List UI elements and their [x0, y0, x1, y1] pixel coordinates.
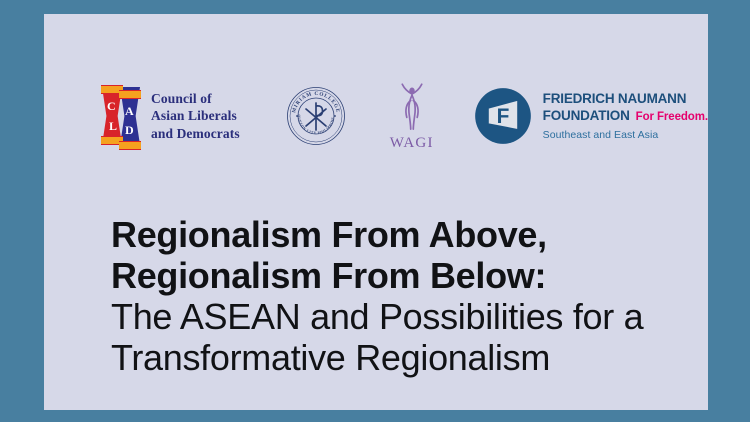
wagi-wordmark: WAGI — [390, 135, 434, 152]
subtitle-line-1: The ASEAN and Possibilities for a — [111, 296, 691, 337]
svg-text:F: F — [496, 105, 509, 128]
fnf-region-label: Southeast and East Asia — [543, 129, 708, 141]
title-line-2: Regionalism From Below: — [111, 255, 691, 296]
fnf-line-2: FOUNDATION — [543, 108, 630, 124]
cald-wordmark-line-3: and Democrats — [151, 125, 240, 142]
title-line-1: Regionalism From Above, — [111, 214, 691, 255]
logo-miriam-college: MIRIAM COLLEGE QUEZON CITY PHILIPPINES — [286, 70, 346, 162]
presentation-slide: C A L D Council of Asian Liberals and De… — [44, 14, 708, 410]
cald-letter-c: C — [107, 100, 116, 112]
cald-letter-d: D — [125, 124, 134, 136]
slide-title-block: Regionalism From Above, Regionalism From… — [111, 214, 691, 378]
logo-wagi: WAGI — [390, 70, 434, 162]
logo-cald: C A L D Council of Asian Liberals and De… — [102, 70, 240, 162]
fnf-line-1: FRIEDRICH NAUMANN — [543, 91, 708, 107]
cald-wordmark-line-2: Asian Liberals — [151, 107, 240, 124]
slide-canvas: C A L D Council of Asian Liberals and De… — [0, 0, 750, 422]
cald-wordmark-line-1: Council of — [151, 90, 240, 107]
cald-letter-l: L — [109, 120, 117, 132]
fnf-emblem-icon: F — [474, 87, 532, 145]
subtitle-line-2: Transformative Regionalism — [111, 337, 691, 378]
cald-letter-a: A — [125, 105, 134, 117]
partner-logo-row: C A L D Council of Asian Liberals and De… — [44, 70, 708, 162]
fnf-wordmark: FRIEDRICH NAUMANN FOUNDATION For Freedom… — [543, 91, 708, 141]
logo-friedrich-naumann-foundation: F FRIEDRICH NAUMANN FOUNDATION For Freed… — [474, 70, 708, 162]
fnf-tagline: For Freedom. — [636, 110, 708, 124]
cald-wordmark: Council of Asian Liberals and Democrats — [151, 90, 240, 142]
cald-emblem-icon: C A L D — [102, 83, 144, 149]
wagi-figure-icon — [392, 81, 432, 133]
miriam-college-seal-icon: MIRIAM COLLEGE QUEZON CITY PHILIPPINES — [286, 86, 346, 146]
fnf-line-2-row: FOUNDATION For Freedom. — [543, 108, 708, 124]
